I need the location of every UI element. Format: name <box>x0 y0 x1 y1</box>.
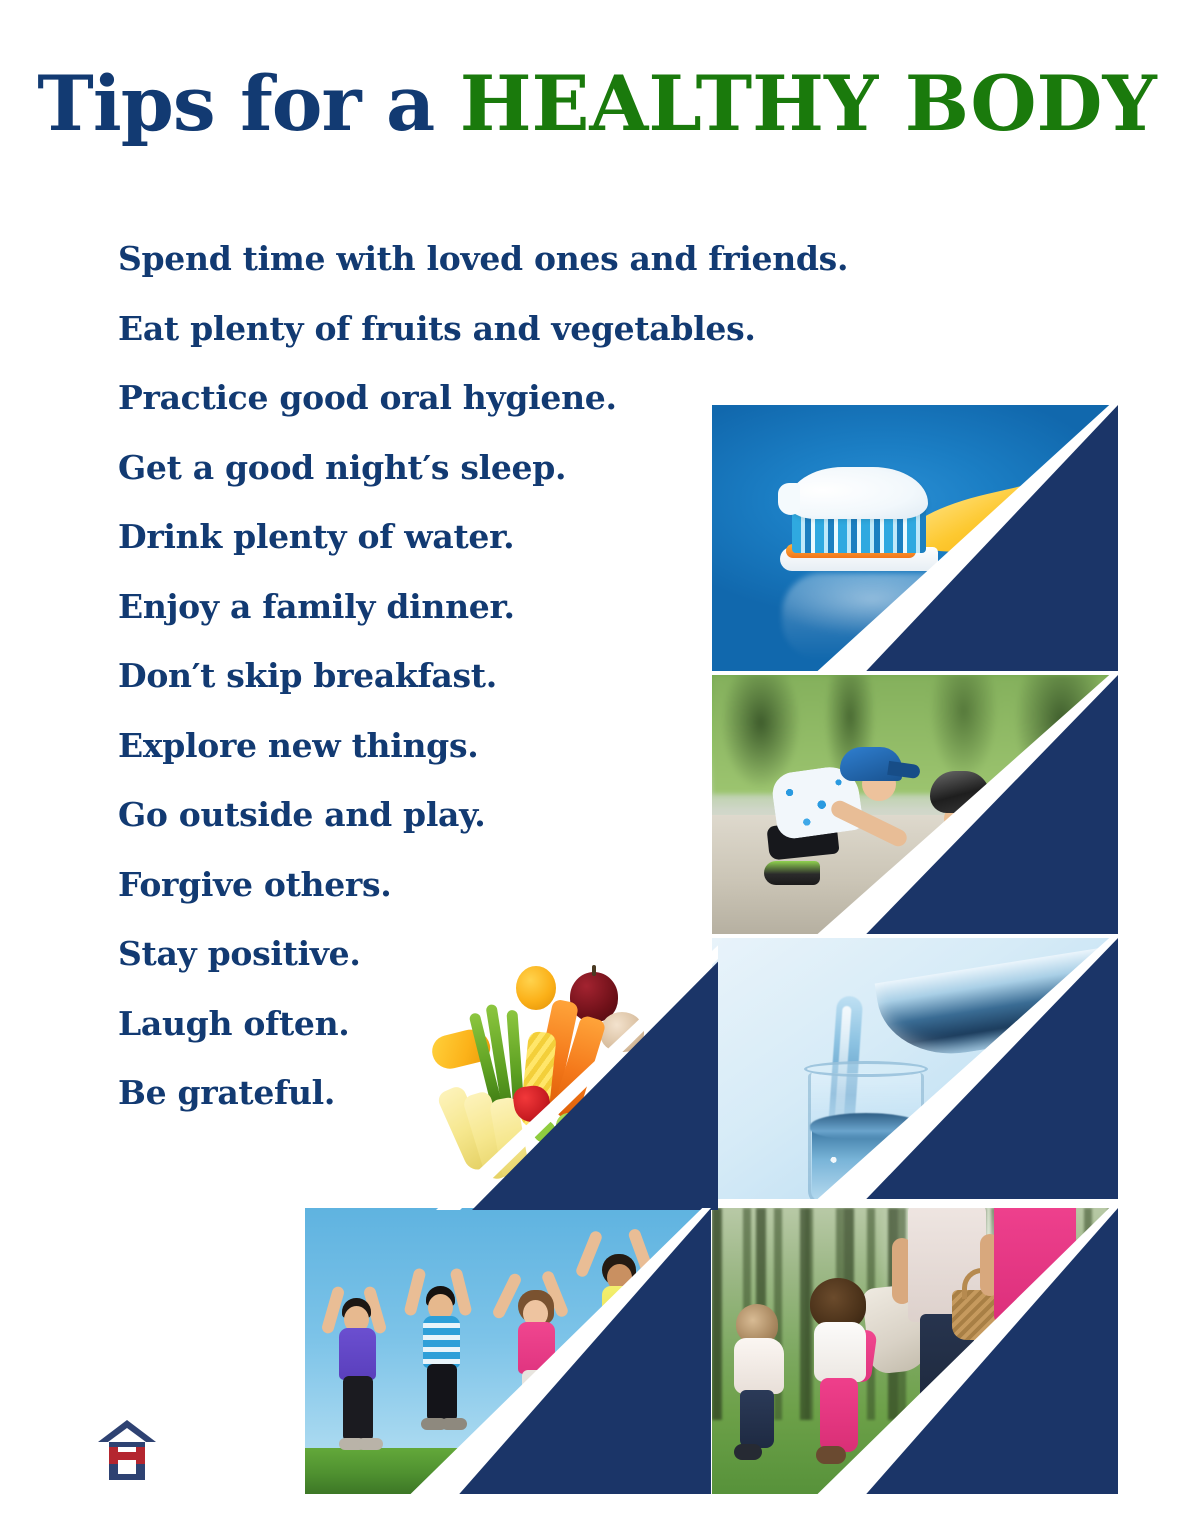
child-legs <box>427 1364 457 1420</box>
child-top <box>339 1328 376 1380</box>
child-legs <box>343 1376 373 1440</box>
photo-toothbrush <box>712 405 1118 671</box>
child-shoe <box>764 861 820 885</box>
child-top <box>734 1338 784 1394</box>
child-pants <box>820 1378 858 1452</box>
photo-vegetables <box>418 940 718 1210</box>
title-prefix: Tips for a <box>37 59 459 148</box>
child-top <box>814 1322 866 1382</box>
list-item: Eat plenty of fruits and vegetables. <box>118 294 818 364</box>
photo-jumping-kids <box>305 1208 711 1494</box>
orange-fruit <box>516 966 556 1010</box>
photo-kids-outside <box>712 675 1118 934</box>
title-emphasis: HEALTHY BODY <box>460 59 1157 148</box>
photo-family-walk <box>712 1208 1118 1494</box>
page-title: Tips for a HEALTHY BODY <box>0 62 1194 146</box>
poster: Tips for a HEALTHY BODY Spend time with … <box>0 0 1194 1536</box>
child-shoe <box>816 1446 846 1464</box>
child-shoe <box>357 1438 383 1450</box>
photo-pouring-water <box>712 938 1118 1199</box>
house-logo <box>96 1412 158 1484</box>
child-pants <box>740 1390 774 1448</box>
child-cap <box>840 747 902 781</box>
toothpaste <box>788 467 928 519</box>
glass-rim <box>804 1061 928 1077</box>
child-shoe <box>441 1418 467 1430</box>
child-top <box>423 1316 460 1368</box>
list-item: Spend time with loved ones and friends. <box>118 224 818 294</box>
child-shoe <box>734 1444 762 1460</box>
